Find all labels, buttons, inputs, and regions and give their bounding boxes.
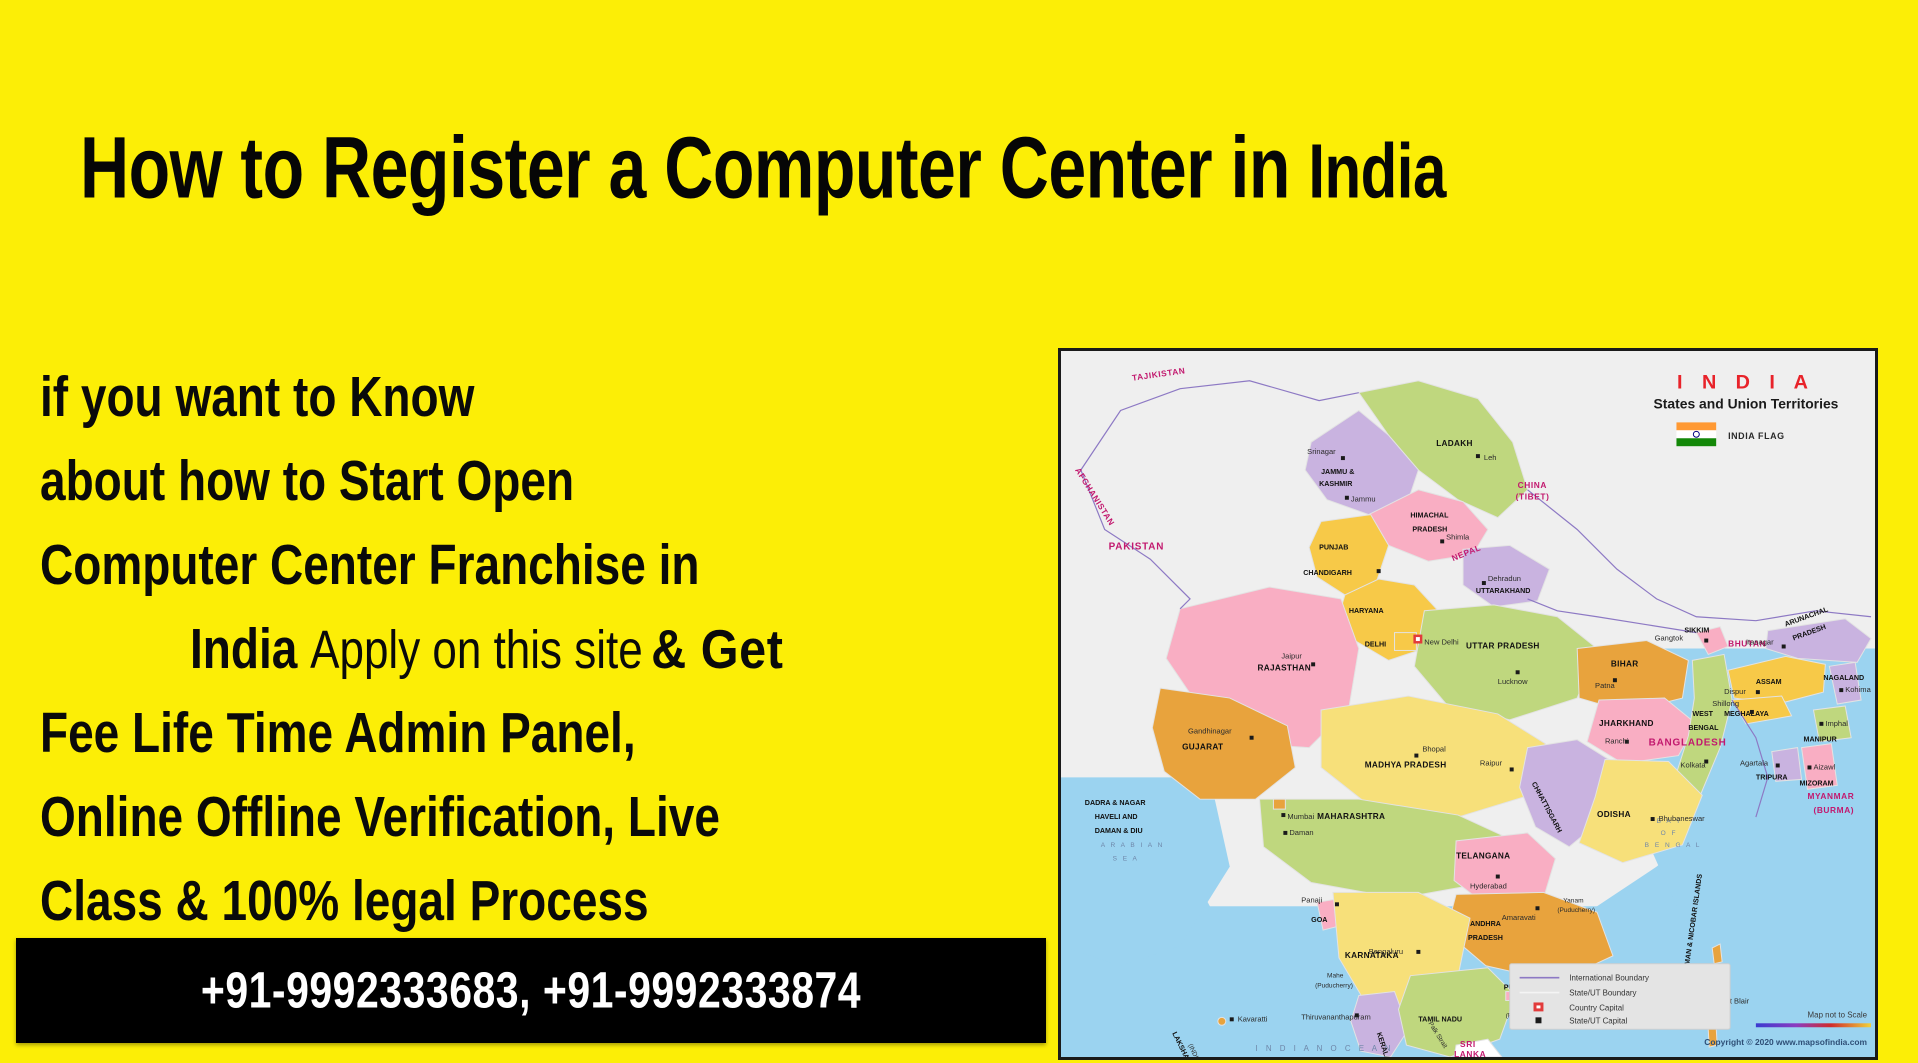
country-label-bangladesh: BANGLADESH — [1649, 738, 1727, 749]
marker-mumbai — [1281, 813, 1285, 817]
india-map-svg: I N D I A States and Union Territories I… — [1061, 351, 1875, 1057]
state-label-assam: ASSAM — [1756, 678, 1782, 686]
city-label-bhubaneswar: Bhubaneswar — [1659, 814, 1706, 823]
city-label-srinagar: Srinagar — [1307, 447, 1336, 456]
sea-label-arabian-2: S E A — [1113, 856, 1139, 863]
state-label-sikkim: SIKKIM — [1684, 627, 1709, 635]
state-label-jharkhand: JHARKHAND — [1599, 719, 1654, 728]
copy-line-6: Class & 100% legal Process — [40, 849, 1070, 951]
country-label-myanmar-1: MYANMAR — [1807, 791, 1854, 801]
marker-kavaratti — [1230, 1017, 1234, 1021]
map-copyright-rule — [1756, 1023, 1871, 1027]
city-label-mahe-1: Mahe — [1327, 973, 1344, 980]
poster-root: How to Register a Computer Center in Ind… — [0, 0, 1918, 1063]
state-label-mizoram: MIZORAM — [1800, 779, 1834, 787]
state-label-dnh-3: DAMAN & DIU — [1095, 827, 1143, 835]
city-label-kolkata: Kolkata — [1680, 760, 1706, 769]
marker-shimla — [1440, 539, 1444, 543]
city-label-shillong: Shillong — [1712, 699, 1739, 708]
map-legend: International Boundary State/UT Boundary… — [1510, 964, 1730, 1029]
state-label-dnh-2: HAVELI AND — [1095, 813, 1138, 821]
page-title: How to Register a Computer Center in Ind… — [80, 118, 1780, 218]
city-label-itanagar: Itanagar — [1746, 638, 1774, 647]
state-label-ladakh: LADAKH — [1436, 439, 1473, 448]
city-label-bhopal: Bhopal — [1422, 745, 1446, 754]
state-label-gujarat: GUJARAT — [1182, 743, 1223, 752]
city-label-leh: Leh — [1484, 453, 1497, 462]
city-label-thiruvananthapuram: Thiruvananthapuram — [1301, 1012, 1371, 1021]
map-flag-label: INDIA FLAG — [1728, 431, 1785, 441]
state-label-haryana: HARYANA — [1349, 607, 1384, 615]
city-label-yanam-1: Yanam — [1563, 897, 1584, 904]
legend-label-international-boundary: International Boundary — [1569, 974, 1649, 983]
page-title-emphasis: India — [1308, 128, 1446, 214]
state-label-maharashtra: MAHARASHTRA — [1317, 812, 1385, 821]
map-copyright: Copyright © 2020 www.mapsofindia.com — [1704, 1037, 1867, 1047]
state-label-hp-1: HIMACHAL — [1410, 512, 1449, 520]
state-label-uttar-pradesh: UTTAR PRADESH — [1466, 641, 1540, 650]
state-delhi[interactable] — [1395, 633, 1417, 651]
city-label-patna: Patna — [1595, 681, 1616, 690]
state-label-dnh-1: DADRA & NAGAR — [1085, 799, 1146, 807]
marker-chandigarh — [1377, 569, 1381, 573]
marker-bhubaneswar — [1651, 817, 1655, 821]
state-label-madhya-pradesh: MADHYA PRADESH — [1365, 760, 1447, 769]
city-label-imphal: Imphal — [1825, 719, 1848, 728]
marker-lucknow — [1516, 670, 1520, 674]
marker-bengaluru — [1416, 950, 1420, 954]
state-label-odisha: ODISHA — [1597, 810, 1631, 819]
city-label-shimla: Shimla — [1446, 532, 1470, 541]
city-label-raipur: Raipur — [1480, 758, 1503, 767]
page-title-main: How to Register a Computer Center in — [80, 119, 1308, 216]
legend-swatch-country-capital-inner — [1536, 1005, 1540, 1008]
state-label-nagaland: NAGALAND — [1823, 674, 1864, 682]
state-label-bihar: BIHAR — [1611, 659, 1639, 668]
india-flag-icon — [1676, 422, 1716, 446]
city-label-kohima: Kohima — [1845, 685, 1871, 694]
cta-apply-label[interactable]: Apply on this site — [310, 620, 643, 680]
state-label-ap-2: PRADESH — [1468, 934, 1503, 942]
marker-itanagar — [1782, 645, 1786, 649]
marker-hyderabad — [1496, 875, 1500, 879]
state-label-wb-1: WEST — [1692, 710, 1713, 718]
cta-india-label: India — [190, 617, 297, 680]
city-label-ranchi: Ranchi — [1605, 737, 1629, 746]
marker-bhopal — [1414, 754, 1418, 758]
state-label-tripura: TRIPURA — [1756, 773, 1788, 781]
marker-panaji — [1335, 902, 1339, 906]
marker-imphal — [1819, 722, 1823, 726]
state-label-telangana: TELANGANA — [1456, 852, 1510, 861]
state-label-rajasthan: RAJASTHAN — [1258, 663, 1311, 672]
city-label-dehradun: Dehradun — [1488, 574, 1521, 583]
city-label-yanam-2: (Puducherry) — [1557, 907, 1595, 914]
city-label-jaipur: Jaipur — [1281, 651, 1302, 660]
country-label-myanmar-2: (BURMA) — [1813, 805, 1854, 815]
marker-gangtok — [1704, 639, 1708, 643]
marker-dehradun — [1482, 581, 1486, 585]
promo-copy: if you want to Know about how to Start O… — [40, 345, 1070, 933]
state-label-manipur: MANIPUR — [1804, 736, 1837, 744]
marker-srinagar — [1341, 456, 1345, 460]
map-title: I N D I A — [1677, 372, 1815, 394]
legend-label-state-capital: State/UT Capital — [1569, 1016, 1627, 1025]
city-label-kavaratti: Kavaratti — [1238, 1014, 1268, 1023]
city-label-jammu: Jammu — [1351, 495, 1376, 504]
sea-label-arabian-1: A R A B I A N — [1101, 842, 1165, 849]
marker-shillong — [1750, 710, 1754, 714]
city-label-gandhinagar: Gandhinagar — [1188, 727, 1232, 736]
marker-agartala — [1776, 763, 1780, 767]
legend-label-state-boundary: State/UT Boundary — [1569, 989, 1636, 998]
sea-label-bay-3: B E N G A L — [1645, 842, 1702, 849]
city-label-dispur: Dispur — [1724, 687, 1746, 696]
city-label-daman: Daman — [1289, 828, 1313, 837]
sea-label-bay-2: O F — [1661, 830, 1678, 837]
marker-dispur — [1756, 690, 1760, 694]
city-label-mumbai: Mumbai — [1287, 812, 1314, 821]
country-label-pakistan: PAKISTAN — [1109, 541, 1165, 552]
marker-raipur — [1510, 767, 1514, 771]
country-capital-marker — [1413, 635, 1422, 644]
marker-gandhinagar — [1250, 736, 1254, 740]
country-label-srilanka-1: SRI — [1460, 1039, 1476, 1049]
phone-numbers[interactable]: +91-9992333683, +91-9992333874 — [201, 961, 861, 1020]
legend-swatch-state-capital — [1536, 1017, 1542, 1023]
marker-kohima — [1839, 688, 1843, 692]
country-label-srilanka-2: LANKA — [1454, 1049, 1486, 1057]
map-subtitle: States and Union Territories — [1654, 396, 1839, 412]
state-label-wb-2: BENGAL — [1688, 724, 1719, 732]
state-label-jk-1: JAMMU & — [1321, 468, 1354, 476]
city-label-new-delhi: New Delhi — [1424, 638, 1459, 647]
state-label-hp-2: PRADESH — [1412, 525, 1447, 533]
city-label-agartala: Agartala — [1740, 758, 1769, 767]
state-label-jk-2: KASHMIR — [1319, 480, 1352, 488]
city-label-panaji: Panaji — [1301, 895, 1322, 904]
state-lakshadweep[interactable] — [1218, 1017, 1226, 1025]
marker-aizawl — [1807, 765, 1811, 769]
sea-label-indian-ocean: I N D I A N O C E A N — [1256, 1044, 1394, 1053]
city-label-gangtok: Gangtok — [1655, 634, 1684, 643]
state-label-chandigarh: CHANDIGARH — [1303, 569, 1352, 577]
marker-amaravati — [1536, 906, 1540, 910]
state-dadra-nagar-haveli-daman-diu[interactable] — [1273, 799, 1285, 809]
city-label-amaravati: Amaravati — [1502, 913, 1536, 922]
state-label-goa: GOA — [1311, 916, 1327, 924]
marker-daman — [1283, 831, 1287, 835]
marker-jammu — [1345, 496, 1349, 500]
contact-phone-bar[interactable]: +91-9992333683, +91-9992333874 — [16, 938, 1046, 1043]
country-label-china-2: (TIBET) — [1516, 492, 1550, 502]
state-label-uttarakhand: UTTARAKHAND — [1476, 587, 1531, 595]
state-label-delhi: DELHI — [1365, 640, 1386, 648]
marker-leh — [1476, 454, 1480, 458]
state-label-meghalaya: MEGHALAYA — [1724, 710, 1769, 718]
island-andaman-north[interactable] — [1712, 944, 1722, 964]
india-map-panel: I N D I A States and Union Territories I… — [1058, 348, 1878, 1060]
state-label-ap-1: ANDHRA — [1470, 920, 1501, 928]
state-label-punjab: PUNJAB — [1319, 543, 1348, 551]
city-label-aizawl: Aizawl — [1813, 762, 1835, 771]
city-label-lucknow: Lucknow — [1498, 677, 1528, 686]
map-scale-note: Map not to Scale — [1808, 1010, 1868, 1019]
country-label-china-1: CHINA — [1518, 480, 1547, 490]
marker-jaipur — [1311, 662, 1315, 666]
city-label-hyderabad: Hyderabad — [1470, 881, 1507, 890]
city-label-mahe-2: (Puducherry) — [1315, 983, 1353, 990]
city-label-bengaluru: Bengaluru — [1369, 947, 1403, 956]
legend-label-country-capital: Country Capital — [1569, 1003, 1624, 1012]
state-label-tamil-nadu: TAMIL NADU — [1418, 1015, 1462, 1023]
